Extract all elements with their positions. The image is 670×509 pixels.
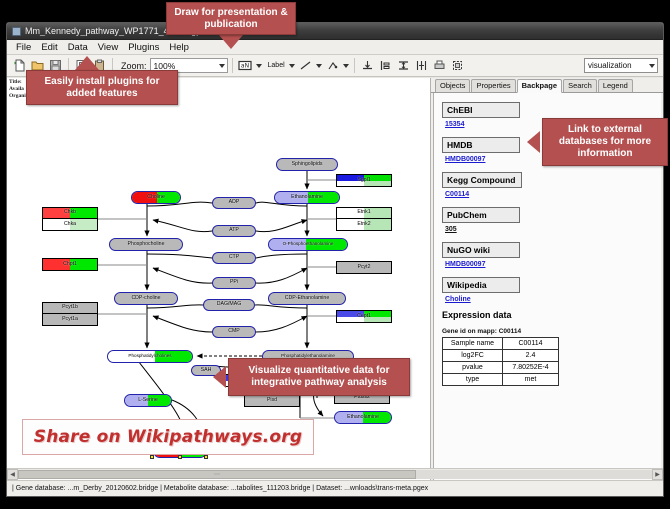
expression-key: type [443,374,503,386]
expression-value: met [503,374,559,386]
pathway-node-atp[interactable]: ATP [212,225,256,237]
expression-key: Sample name [443,338,503,350]
node-label: Pisd [267,398,277,403]
db-link-kegg-compound[interactable]: C00114 [445,191,655,198]
node-label: Choline [147,195,165,200]
expression-value: 7.80252E-4 [503,362,559,374]
db-header-chebi: ChEBI [442,102,520,118]
callout-plugins-arrow [75,56,99,70]
side-panel-tabs: Objects Properties Backpage Search Legen… [431,78,663,93]
selection-handle[interactable] [178,455,182,459]
node-label: Sphingolipids [292,162,323,167]
node-label: Phosphocholine [128,242,165,247]
node-label: PPi [230,280,238,285]
callout-plugins: Easily install plugins for added feature… [26,70,178,105]
selection-handle[interactable] [204,455,208,459]
db-value-pubchem: 305 [445,226,655,233]
tab-objects[interactable]: Objects [435,79,470,92]
node-label: Pcyt2 [358,265,371,270]
node-label: Chpt1 [63,262,77,267]
node-label: CDP-Ethanolamine [285,296,329,301]
expression-key: pvalue [443,362,503,374]
node-label: Cept1 [357,314,371,319]
db-header-nugo-wiki: NuGO wiki [442,242,520,258]
chevron-down-icon [649,64,655,68]
node-label: Chkb [64,210,76,215]
pathway-node-ethanolamine-right[interactable]: Ethanolamine [334,411,392,424]
node-label: L-Serine [138,398,158,403]
callout-visualize-arrow [213,366,226,388]
node-label: CDP-choline [131,296,160,301]
toolbar-separator-4 [354,58,355,73]
node-label: Ethanolamine [347,415,379,420]
expression-key: log2FC [443,350,503,362]
menu-item-edit[interactable]: Edit [36,42,62,53]
pathway-node-chpt1[interactable]: Chpt1 [42,258,98,271]
align-top-icon[interactable] [359,57,376,74]
datanode-dropdown-arrow[interactable] [255,58,263,73]
pathway-node-ethanolamine[interactable]: Ethanolamine [274,191,340,204]
callout-draw-arrow [219,35,243,49]
label-dropdown-label: Label [268,62,285,69]
db-header-kegg-compound: Kegg Compound [442,172,522,188]
node-label: SAH [201,368,212,373]
gene-id-line: Gene id on mapp: C00114 [442,328,655,335]
node-label: ADP [229,200,240,205]
pathway-node-cdp-choline[interactable]: CDP-choline [114,292,178,305]
pathway-node-ctp[interactable]: CTP [212,252,256,264]
scrollbar-thumb[interactable]: ⋯ [18,470,416,479]
callout-visualize: Visualize quantitative data for integrat… [228,358,410,396]
node-label: Chka [64,222,76,227]
node-label: CMP [228,329,240,334]
zoom-label: Zoom: [121,61,147,71]
pathway-node-lserine-left[interactable]: L-Serine [124,394,172,407]
distribute-horizontal-icon[interactable] [413,57,430,74]
label-dropdown-arrow[interactable] [288,58,296,73]
align-left-icon[interactable] [377,57,394,74]
pathway-node-cdp-ethanolamine[interactable]: CDP-Ethanolamine [268,292,346,305]
scroll-right-arrow[interactable]: ▶ [652,469,663,480]
share-banner: Share on Wikipathways.org [22,419,314,455]
node-label: Phosphatidylcholines [128,354,171,359]
pathway-node-dagmag[interactable]: DAG/MAG [203,299,255,311]
table-row: Sample nameC00114 [443,338,559,350]
pathway-node-pcyt2[interactable]: Pcyt2 [336,261,392,274]
node-label: Etnk2 [357,222,370,227]
tab-legend[interactable]: Legend [598,79,633,92]
node-label: O-Phosphoethanolamine [283,242,334,247]
pathway-node-pcyt1[interactable]: Pcyt1bPcyt1a [42,302,98,326]
node-label: Sgpl1 [357,178,370,183]
expression-value: 2.4 [503,350,559,362]
svg-text:aN: aN [241,63,249,70]
node-label: Etnk1 [357,210,370,215]
status-text: | Gene database: ...m_Derby_20120602.bri… [12,485,428,492]
table-row: pvalue7.80252E-4 [443,362,559,374]
table-row: log2FC2.4 [443,350,559,362]
toolbar-separator-3 [232,58,233,73]
group-icon[interactable] [449,57,466,74]
db-header-pubchem: PubChem [442,207,520,223]
pathway-node-choline-top[interactable]: Choline [131,191,181,204]
expression-table: Sample nameC00114log2FC2.4pvalue7.80252E… [442,337,559,386]
node-label: CTP [229,255,239,260]
chevron-down-icon [219,64,225,68]
pathway-node-ophosphoethanolamine[interactable]: O-Phosphoethanolamine [268,238,348,251]
db-header-hmdb: HMDB [442,137,520,153]
share-banner-text: Share on Wikipathways.org [34,427,302,447]
menu-bar: File Edit Data View Plugins Help [7,40,663,55]
print-icon[interactable] [431,57,448,74]
pathway-node-sphingolipids[interactable]: Sphingolipids [276,158,338,171]
pathway-node-phosphatidylcholines[interactable]: Phosphatidylcholines [107,350,193,363]
visualization-combo[interactable]: visualization [584,58,658,73]
pathway-node-ssp1[interactable]: Sgpl1 [336,174,392,187]
scroll-left-arrow[interactable]: ◀ [7,469,18,480]
pathway-node-phosphocholine[interactable]: Phosphocholine [109,238,183,251]
zoom-value: 100% [154,61,176,71]
pathway-node-etnk[interactable]: Etnk1Etnk2 [336,207,392,231]
node-label: DAG/MAG [217,302,242,307]
scrollbar-track[interactable]: ⋯ [18,470,652,479]
callout-draw: Draw for presentation & publication [166,2,296,35]
tab-search[interactable]: Search [563,79,597,92]
expression-data-title: Expression data [442,310,655,320]
pathway-node-adp[interactable]: ADP [212,197,256,209]
line-dropdown-arrow[interactable] [315,58,323,73]
db-header-wikipedia: Wikipedia [442,277,520,293]
datanode-icon[interactable]: aN [237,57,254,74]
horizontal-scrollbar[interactable]: ◀ ⋯ ▶ [7,468,663,479]
node-label: Pcyt1b [62,305,78,310]
pathway-node-chkb[interactable]: ChkbChka [42,207,98,231]
interaction-dropdown-arrow[interactable] [342,58,350,73]
menu-item-data[interactable]: Data [63,42,93,53]
pathway-node-cept1[interactable]: Cept1 [336,310,392,323]
menu-item-file[interactable]: File [11,42,36,53]
db-link-wikipedia[interactable]: Choline [445,296,655,303]
title-bar: Mm_Kennedy_pathway_WP1771_45176.gpml [7,23,663,40]
tab-backpage[interactable]: Backpage [517,79,562,93]
node-label: Ethanolamine [291,195,323,200]
pathvisio-app-icon [12,27,21,36]
node-label: ATP [229,228,239,233]
line-tool-icon[interactable] [297,57,314,74]
callout-links-arrow [527,131,540,153]
node-label: Pcyt1a [62,317,78,322]
status-bar: | Gene database: ...m_Derby_20120602.bri… [7,480,663,496]
pathway-node-cmp[interactable]: CMP [212,326,256,338]
table-row: typemet [443,374,559,386]
tab-properties[interactable]: Properties [471,79,515,92]
align-vertical-icon[interactable] [395,57,412,74]
screenshot-root: Mm_Kennedy_pathway_WP1771_45176.gpml Fil… [0,0,670,509]
pathway-node-ppi[interactable]: PPi [212,277,256,289]
menu-item-plugins[interactable]: Plugins [123,42,164,53]
expression-value: C00114 [503,338,559,350]
visualization-value: visualization [588,61,632,70]
callout-links: Link to external databases for more info… [542,118,668,166]
menu-item-view[interactable]: View [93,42,123,53]
selection-handle[interactable] [150,455,154,459]
menu-item-help[interactable]: Help [164,42,194,53]
db-link-nugo-wiki[interactable]: HMDB00097 [445,261,655,268]
interaction-tool-icon[interactable] [324,57,341,74]
